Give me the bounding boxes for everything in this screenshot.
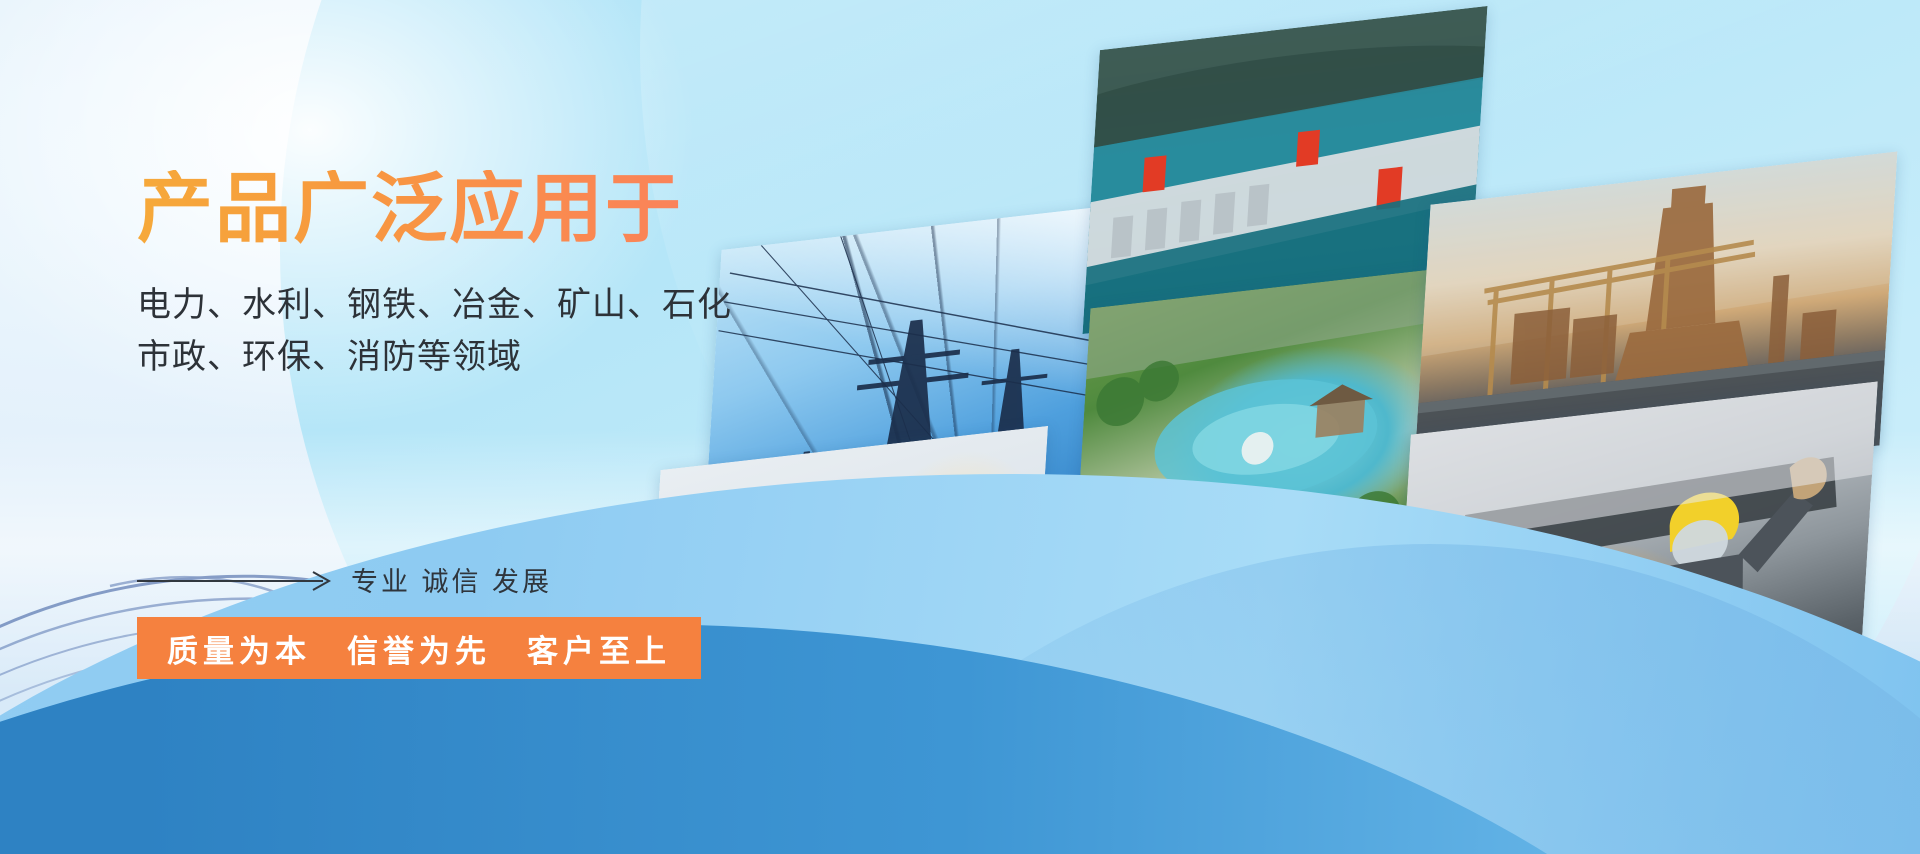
motto-text: 专业 诚信 发展 [351, 560, 552, 599]
slogan-bar: 质量为本 信誉为先 客户至上 [137, 617, 701, 679]
subtitle-line-1: 电力、水利、钢铁、冶金、矿山、石化 [137, 279, 897, 332]
promo-banner: 产品广泛应用于 电力、水利、钢铁、冶金、矿山、石化 市政、环保、消防等领域 专业… [0, 0, 1920, 854]
page-title: 产品广泛应用于 [137, 170, 897, 251]
headline-block: 产品广泛应用于 电力、水利、钢铁、冶金、矿山、石化 市政、环保、消防等领域 [137, 170, 897, 384]
long-arrow-right-icon [137, 569, 337, 591]
subtitle-block: 电力、水利、钢铁、冶金、矿山、石化 市政、环保、消防等领域 [137, 279, 897, 384]
subtitle-line-2: 市政、环保、消防等领域 [137, 331, 897, 384]
motto-row: 专业 诚信 发展 [137, 560, 552, 599]
